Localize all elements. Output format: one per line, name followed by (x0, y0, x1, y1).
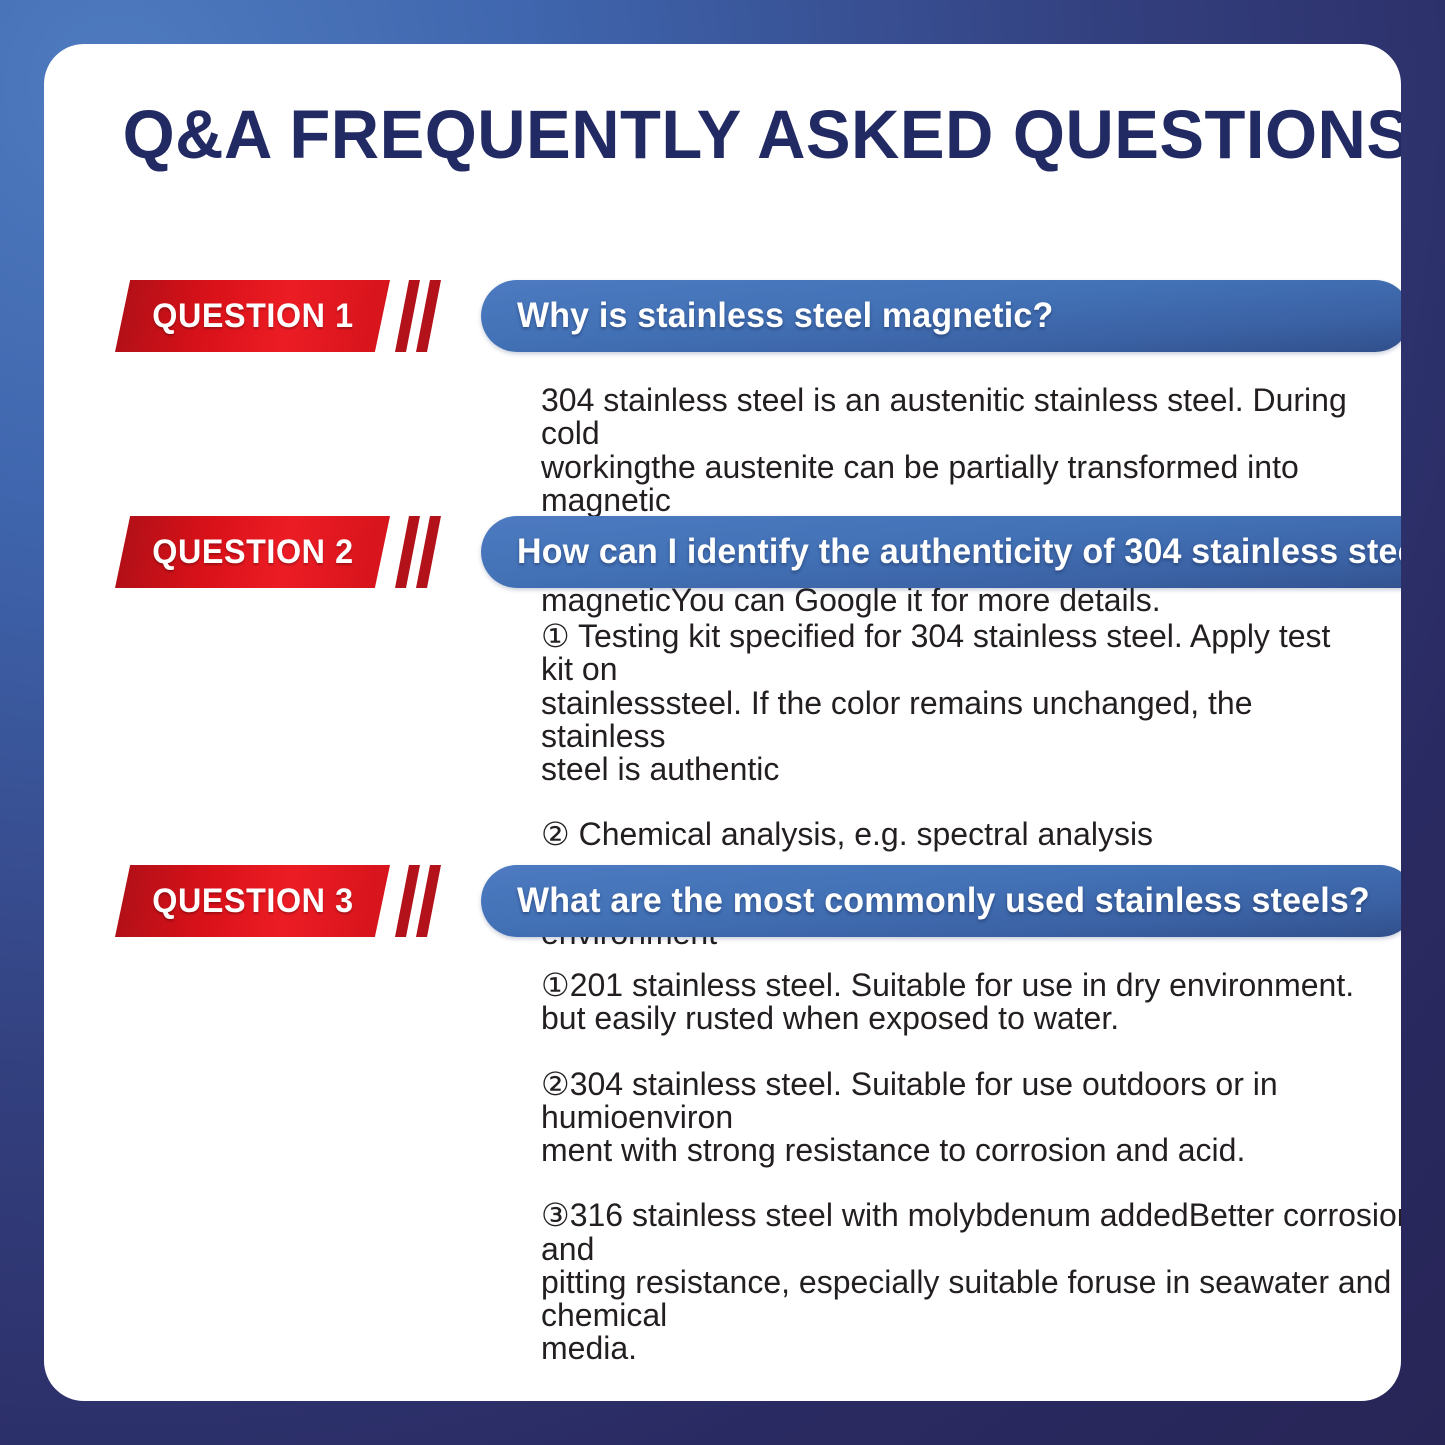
question-tag-label-1: QUESTION 1 (152, 297, 353, 336)
answer-line: ③316 stainless steel with molybdenum add… (541, 1199, 1401, 1266)
answer-line: ment with strong resistance to corrosion… (541, 1134, 1401, 1167)
answer-line: pitting resistance, especially suitable … (541, 1266, 1401, 1333)
slash-divider-1 (399, 280, 451, 352)
answer-line: workingthe austenite can be partially tr… (541, 451, 1401, 518)
answer-line: 304 stainless steel is an austenitic sta… (541, 384, 1401, 451)
answer-line: ② Chemical analysis, e.g. spectral analy… (541, 818, 1331, 851)
answer-line: but easily rusted when exposed to water. (541, 1002, 1401, 1035)
faq-question-bar-1: QUESTION 1 Why is stainless steel magnet… (44, 280, 1401, 352)
slash-icon (395, 865, 420, 937)
question-tag-label-2: QUESTION 2 (152, 533, 353, 572)
answer-line: ①201 stainless steel. Suitable for use i… (541, 969, 1401, 1002)
answer-line: ④410 stainless steel . Good corrosion re… (541, 1398, 1401, 1401)
question-text-3: What are the most commonly used stainles… (517, 881, 1370, 921)
slash-icon (416, 865, 441, 937)
question-pill-3[interactable]: What are the most commonly used stainles… (481, 865, 1401, 937)
slash-icon (416, 280, 441, 352)
faq-block-3: QUESTION 3 What are the most commonly us… (44, 865, 1401, 937)
answer-line: ① Testing kit specified for 304 stainles… (541, 620, 1331, 687)
slash-icon (416, 516, 441, 588)
faq-card: Q&A FREQUENTLY ASKED QUESTIONS QUESTION … (44, 44, 1401, 1401)
page-title: Q&A FREQUENTLY ASKED QUESTIONS (123, 100, 1326, 169)
faq-question-bar-3: QUESTION 3 What are the most commonly us… (44, 865, 1401, 937)
answer-paragraph: ③316 stainless steel with molybdenum add… (541, 1199, 1401, 1365)
answer-body-3: ①201 stainless steel. Suitable for use i… (541, 969, 1401, 1401)
faq-block-1: QUESTION 1 Why is stainless steel magnet… (44, 280, 1401, 352)
slash-divider-2 (399, 516, 451, 588)
faq-block-2: QUESTION 2 How can I identify the authen… (44, 516, 1401, 588)
question-text-2: How can I identify the authenticity of 3… (517, 532, 1401, 572)
answer-line: media. (541, 1332, 1401, 1365)
question-tag-3[interactable]: QUESTION 3 (115, 865, 390, 937)
answer-paragraph: ①201 stainless steel. Suitable for use i… (541, 969, 1401, 1036)
question-tag-1[interactable]: QUESTION 1 (115, 280, 390, 352)
question-text-1: Why is stainless steel magnetic? (517, 296, 1053, 336)
question-pill-1[interactable]: Why is stainless steel magnetic? (481, 280, 1401, 352)
answer-line: magneticYou can Google it for more detai… (541, 584, 1401, 617)
slash-icon (395, 280, 420, 352)
question-pill-2[interactable]: How can I identify the authenticity of 3… (481, 516, 1401, 588)
faq-question-bar-2: QUESTION 2 How can I identify the authen… (44, 516, 1401, 588)
answer-line: stainlesssteel. If the color remains unc… (541, 687, 1331, 754)
answer-paragraph: ②304 stainless steel. Suitable for use o… (541, 1068, 1401, 1168)
question-tag-2[interactable]: QUESTION 2 (115, 516, 390, 588)
answer-paragraph: ② Chemical analysis, e.g. spectral analy… (541, 818, 1331, 851)
question-tag-label-3: QUESTION 3 (152, 882, 353, 921)
answer-line: ②304 stainless steel. Suitable for use o… (541, 1068, 1401, 1135)
faq-page-background: Q&A FREQUENTLY ASKED QUESTIONS QUESTION … (0, 0, 1445, 1445)
slash-divider-3 (399, 865, 451, 937)
slash-icon (395, 516, 420, 588)
answer-paragraph: ④410 stainless steel . Good corrosion re… (541, 1398, 1401, 1401)
answer-paragraph: ① Testing kit specified for 304 stainles… (541, 620, 1331, 786)
answer-line: steel is authentic (541, 753, 1331, 786)
